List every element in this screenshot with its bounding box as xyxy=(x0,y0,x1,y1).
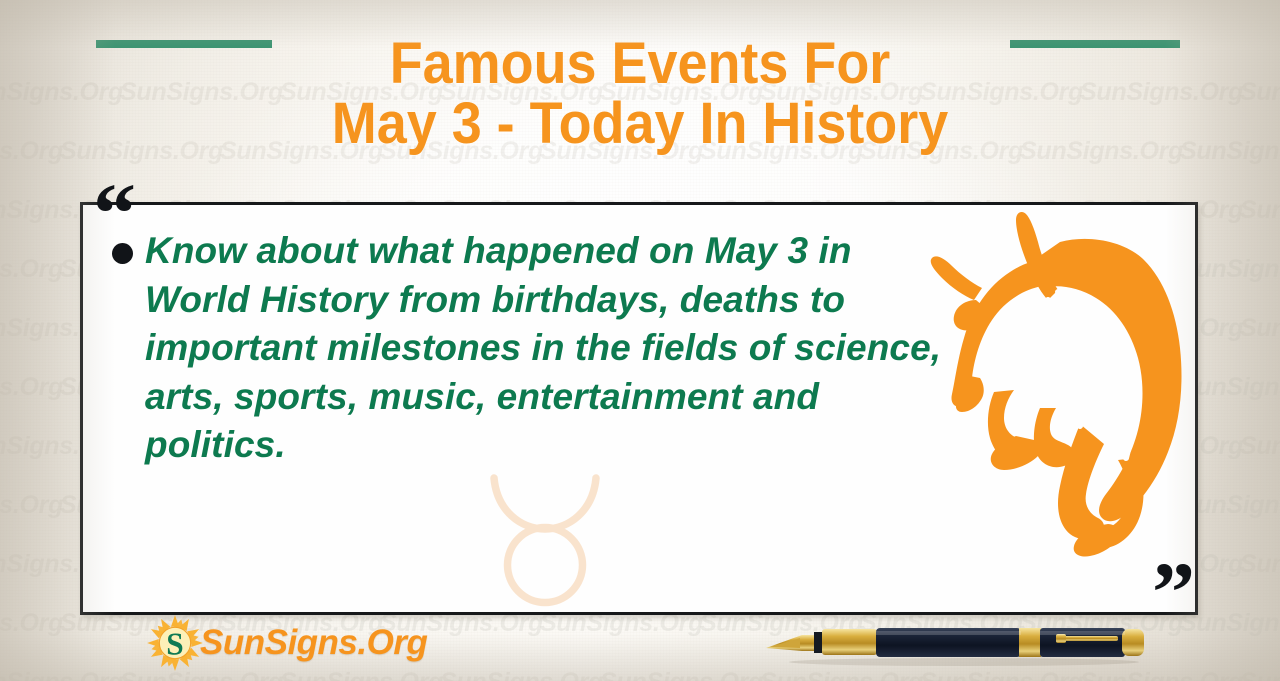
svg-text:S: S xyxy=(166,627,183,662)
watermark-text: SunSigns.Org xyxy=(920,668,1083,681)
watermark-text: SunSigns.Org xyxy=(1240,550,1280,579)
page-title: Famous Events For May 3 - Today In Histo… xyxy=(0,34,1280,153)
quote-body-text: Know about what happened on May 3 in Wor… xyxy=(145,227,955,470)
poster-canvas: SunSigns.OrgSunSigns.OrgSunSigns.OrgSunS… xyxy=(0,0,1280,681)
watermark-text: SunSigns.Org xyxy=(0,609,63,638)
watermark-text: SunSigns.Org xyxy=(0,255,63,284)
opening-quote-mark: “ xyxy=(93,170,132,256)
watermark-text: SunSigns.Org xyxy=(1240,196,1280,225)
taurus-bull-icon xyxy=(930,208,1192,560)
watermark-text: SunSigns.Org xyxy=(1240,432,1280,461)
watermark-text: SunSigns.Org xyxy=(0,491,63,520)
watermark-text: SunSigns.Org xyxy=(600,668,763,681)
page-title-line-2: May 3 - Today In History xyxy=(45,94,1235,154)
page-title-line-1: Famous Events For xyxy=(45,34,1235,94)
watermark-text: SunSigns.Org xyxy=(0,373,63,402)
sunsigns-logo[interactable]: S SunSigns.Org xyxy=(146,614,427,672)
logo-wordmark: SunSigns.Org xyxy=(200,623,427,663)
fountain-pen-icon xyxy=(764,618,1164,668)
watermark-text: SunSigns.Org xyxy=(1080,668,1243,681)
watermark-text: SunSigns.Org xyxy=(760,668,923,681)
sun-logo-icon: S xyxy=(146,614,204,672)
watermark-text: SunSigns.Org xyxy=(440,668,603,681)
taurus-zodiac-glyph-icon xyxy=(470,460,620,610)
watermark-text: SunSigns.Org xyxy=(1240,314,1280,343)
watermark-text: SunSigns.Org xyxy=(1240,668,1280,681)
watermark-text: SunSigns.Org xyxy=(0,668,123,681)
